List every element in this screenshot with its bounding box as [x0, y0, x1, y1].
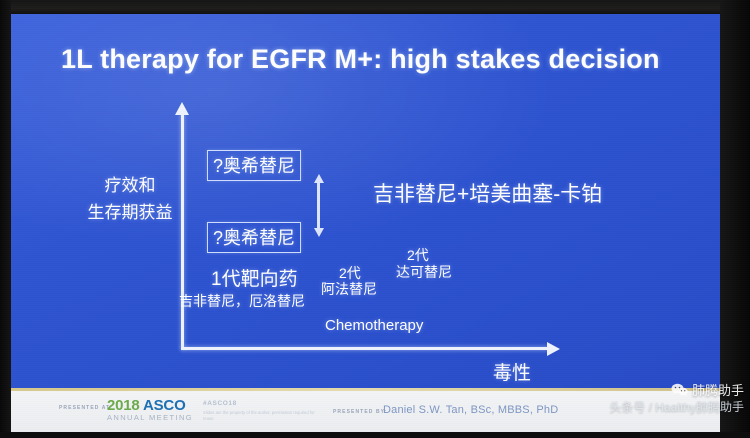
photo-bezel-bottom: [0, 432, 750, 438]
callout-gen2a-drug: 阿法替尼: [321, 279, 377, 299]
y-axis-label-line1: 疗效和: [71, 172, 189, 199]
asco-year: 2018: [107, 397, 140, 414]
asco-logo: 2018 ASCO ANNUAL MEETING: [107, 397, 193, 422]
presenter-name: Daniel S.W. Tan, BSc, MBBS, PhD: [383, 404, 558, 416]
y-axis-line: [181, 112, 184, 349]
asco-logo-primary: 2018 ASCO: [107, 397, 193, 414]
presentation-slide: 1L therapy for EGFR M+: high stakes deci…: [11, 14, 720, 432]
presented-at-label: PRESENTED AT:: [59, 405, 112, 411]
screenshot-root: 1L therapy for EGFR M+: high stakes deci…: [0, 0, 750, 438]
callout-osimertinib-top: ?奥希替尼: [207, 150, 301, 181]
presented-by-label: PRESENTED BY:: [333, 409, 388, 415]
double-arrow-vertical-icon: [317, 182, 320, 229]
arrow-up-icon: [175, 102, 189, 115]
arrow-right-icon: [547, 342, 560, 356]
photo-bezel-left: [0, 0, 11, 438]
asco-hashtag: #ASCO18: [203, 400, 237, 407]
x-axis-label: 毒性: [493, 358, 531, 385]
callout-combination-therapy: 吉非替尼+培美曲塞-卡铂: [373, 178, 602, 208]
asco-name: ASCO: [143, 397, 186, 414]
watermark-account-name: 肺腾助手: [692, 380, 744, 399]
slide-title: 1L therapy for EGFR M+: high stakes deci…: [61, 44, 701, 75]
watermark-platform: 头条号 / Haalthy肺腾助手: [604, 398, 744, 415]
photo-bezel-top: [0, 0, 750, 14]
callout-gen2b-drug: 达可替尼: [396, 262, 452, 282]
callout-gen1-title: 1代靶向药: [211, 264, 298, 291]
wechat-icon: [671, 383, 688, 397]
y-axis-label: 疗效和 生存期获益: [71, 172, 189, 226]
watermark: 肺腾助手 头条号 / Haalthy肺腾助手: [604, 380, 744, 415]
asco-fine-print: Slides are the property of the author, p…: [203, 410, 315, 421]
callout-osimertinib-bottom: ?奥希替尼: [207, 222, 301, 253]
watermark-account-row: 肺腾助手: [604, 380, 744, 399]
asco-subtitle: ANNUAL MEETING: [107, 413, 193, 422]
y-axis-label-line2: 生存期获益: [71, 199, 189, 226]
callout-chemotherapy: Chemotherapy: [325, 317, 423, 334]
photo-bezel-right: [720, 0, 750, 438]
callout-gen1-drugs: 吉非替尼，厄洛替尼: [179, 291, 305, 311]
x-axis-line: [181, 347, 549, 350]
